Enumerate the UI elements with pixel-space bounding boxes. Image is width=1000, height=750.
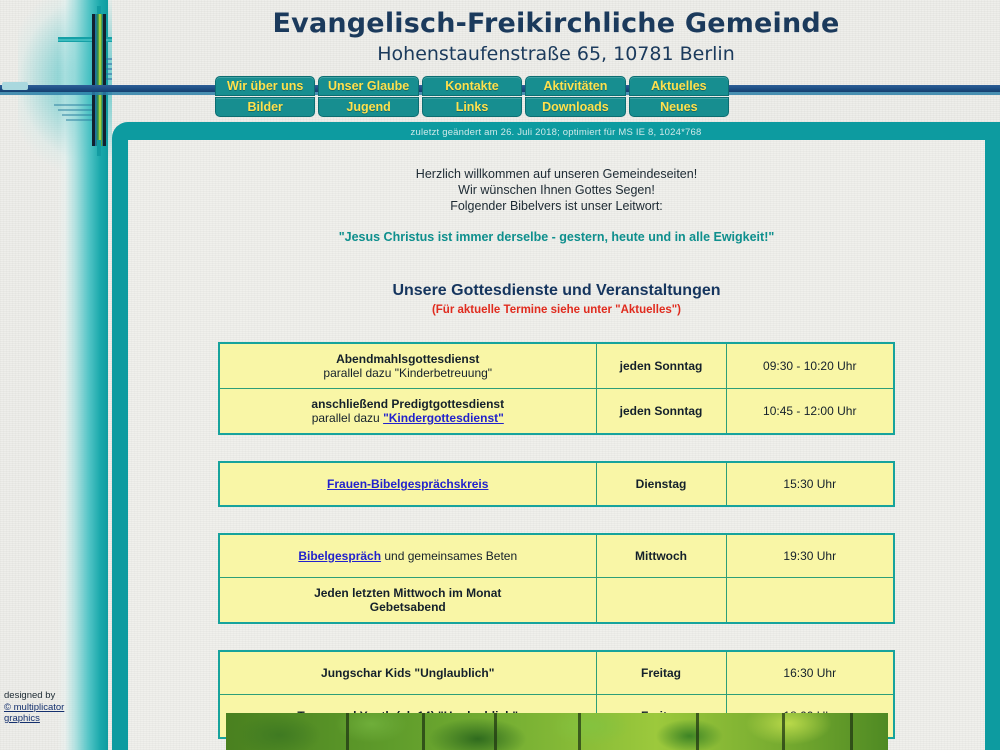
- welcome-line-3: Folgender Bibelvers ist unser Leitwort:: [128, 198, 985, 214]
- service-name-sub: Gebetsabend: [370, 600, 446, 614]
- cell-time: 09:30 - 10:20 Uhr: [726, 343, 894, 389]
- forest-photo: [226, 713, 888, 750]
- service-name-sub: parallel dazu "Kinderbetreuung": [323, 366, 492, 380]
- credit-line: designed by: [4, 690, 108, 702]
- cross-bottom-tip: [97, 140, 101, 156]
- table-row: anschließend Predigtgottesdienst paralle…: [219, 389, 894, 435]
- content-panel: Herzlich willkommen auf unseren Gemeinde…: [128, 140, 985, 750]
- cell-day: [596, 578, 726, 624]
- schedule-table: Frauen-Bibelgesprächskreis Dienstag 15:3…: [218, 461, 895, 507]
- nav-item-kontakte[interactable]: Kontakte: [422, 76, 522, 96]
- cell-service-name: Frauen-Bibelgesprächskreis: [219, 462, 596, 506]
- table-row: Frauen-Bibelgesprächskreis Dienstag 15:3…: [219, 462, 894, 506]
- nav-column-4: Aktivitäten Downloads: [525, 76, 625, 118]
- cell-time: 15:30 Uhr: [726, 462, 894, 506]
- cell-day: Dienstag: [596, 462, 726, 506]
- cell-day: Mittwoch: [596, 534, 726, 578]
- nav-item-neues[interactable]: Neues: [629, 97, 729, 117]
- cell-service-name: anschließend Predigtgottesdienst paralle…: [219, 389, 596, 435]
- cell-time: [726, 578, 894, 624]
- service-name-main: anschließend Predigtgottesdienst: [311, 397, 504, 411]
- nav-column-5: Aktuelles Neues: [629, 76, 729, 118]
- cell-time: 10:45 - 12:00 Uhr: [726, 389, 894, 435]
- credit-link-graphics[interactable]: graphics: [4, 713, 40, 724]
- services-heading: Unsere Gottesdienste und Veranstaltungen: [128, 282, 985, 300]
- nav-item-unser-glaube[interactable]: Unser Glaube: [318, 76, 418, 96]
- cell-day: jeden Sonntag: [596, 389, 726, 435]
- nav-item-jugend[interactable]: Jugend: [318, 97, 418, 117]
- cell-day: Freitag: [596, 651, 726, 695]
- cell-service-name: Jeden letzten Mittwoch im Monat Gebetsab…: [219, 578, 596, 624]
- schedule-table: Bibelgespräch und gemeinsames Beten Mitt…: [218, 533, 895, 624]
- schedule-table: Abendmahlsgottesdienst parallel dazu "Ki…: [218, 342, 895, 435]
- nav-column-3: Kontakte Links: [422, 76, 522, 118]
- table-row: Bibelgespräch und gemeinsames Beten Mitt…: [219, 534, 894, 578]
- cell-service-name: Bibelgespräch und gemeinsames Beten: [219, 534, 596, 578]
- nav-column-1: Wir über uns Bilder: [215, 76, 315, 118]
- nav-item-aktuelles[interactable]: Aktuelles: [629, 76, 729, 96]
- cross-vertical-beam: [95, 14, 103, 146]
- service-name-main: Jungschar Kids "Unglaublich": [321, 666, 494, 680]
- page-header: Evangelisch-Freikirchliche Gemeinde Hohe…: [112, 0, 1000, 74]
- nav-column-2: Unser Glaube Jugend: [318, 76, 418, 118]
- table-row: Abendmahlsgottesdienst parallel dazu "Ki…: [219, 343, 894, 389]
- link-bibelgespraech[interactable]: Bibelgespräch: [298, 549, 381, 563]
- nav-item-downloads[interactable]: Downloads: [525, 97, 625, 117]
- schedule-block-wednesday: Bibelgespräch und gemeinsames Beten Mitt…: [218, 533, 895, 624]
- service-name-rest: und gemeinsames Beten: [381, 549, 517, 563]
- ray-line: [106, 78, 112, 80]
- cell-time: 16:30 Uhr: [726, 651, 894, 695]
- link-kindergottesdienst[interactable]: "Kindergottesdienst": [383, 411, 504, 425]
- bible-verse: "Jesus Christus ist immer derselbe - ges…: [128, 230, 985, 244]
- nav-item-bilder[interactable]: Bilder: [215, 97, 315, 117]
- welcome-block: Herzlich willkommen auf unseren Gemeinde…: [128, 140, 985, 244]
- link-frauen-bibelgespraechskreis[interactable]: Frauen-Bibelgesprächskreis: [327, 477, 488, 491]
- main-navigation: Wir über uns Bilder Unser Glaube Jugend …: [215, 76, 729, 118]
- service-name-sub-prefix: parallel dazu: [312, 411, 383, 425]
- cell-time: 19:30 Uhr: [726, 534, 894, 578]
- last-modified-text: zuletzt geändert am 26. Juli 2018; optim…: [411, 127, 702, 138]
- left-decorative-artwork: [0, 0, 112, 750]
- table-row: Jeden letzten Mittwoch im Monat Gebetsab…: [219, 578, 894, 624]
- service-name-main: Abendmahlsgottesdienst: [336, 352, 479, 366]
- cell-service-name: Abendmahlsgottesdienst parallel dazu "Ki…: [219, 343, 596, 389]
- nav-item-links[interactable]: Links: [422, 97, 522, 117]
- table-row: Jungschar Kids "Unglaublich" Freitag 16:…: [219, 651, 894, 695]
- cell-day: jeden Sonntag: [596, 343, 726, 389]
- schedule-block-sunday: Abendmahlsgottesdienst parallel dazu "Ki…: [218, 342, 895, 435]
- credit-link-multiplicator[interactable]: © multiplicator: [4, 702, 64, 713]
- service-name-main: Jeden letzten Mittwoch im Monat: [314, 586, 501, 600]
- designer-credit: designed by © multiplicator graphics: [4, 690, 108, 725]
- page-subtitle: Hohenstaufenstraße 65, 10781 Berlin: [112, 39, 1000, 65]
- status-bar: zuletzt geändert am 26. Juli 2018; optim…: [112, 122, 1000, 139]
- welcome-line-1: Herzlich willkommen auf unseren Gemeinde…: [128, 166, 985, 182]
- welcome-line-2: Wir wünschen Ihnen Gottes Segen!: [128, 182, 985, 198]
- schedule-block-tuesday: Frauen-Bibelgesprächskreis Dienstag 15:3…: [218, 461, 895, 507]
- blue-bar-end-cap: [2, 82, 28, 90]
- nav-item-wir-ueber-uns[interactable]: Wir über uns: [215, 76, 315, 96]
- cell-service-name: Jungschar Kids "Unglaublich": [219, 651, 596, 695]
- services-note: (Für aktuelle Termine siehe unter "Aktue…: [128, 304, 985, 316]
- page-title: Evangelisch-Freikirchliche Gemeinde: [112, 0, 1000, 39]
- nav-item-aktivitaeten[interactable]: Aktivitäten: [525, 76, 625, 96]
